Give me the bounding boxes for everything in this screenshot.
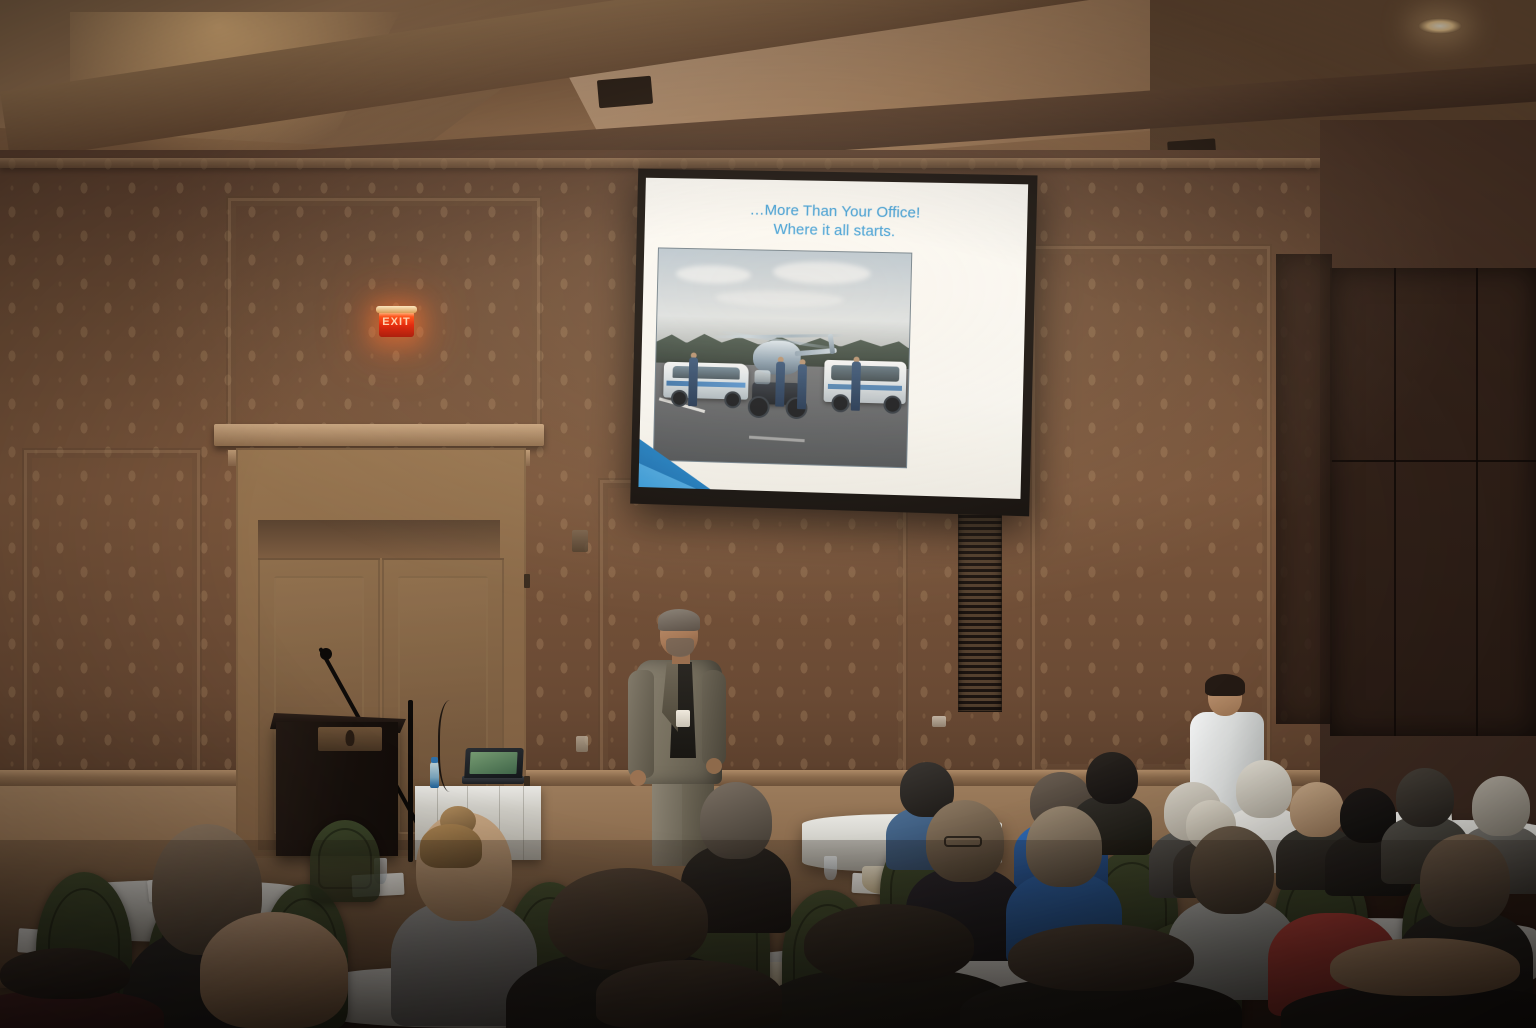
presenter-arm-right xyxy=(702,670,726,766)
photo-cruiser-stripe xyxy=(667,380,745,388)
ceiling-vent-left xyxy=(597,76,653,109)
photo-suv-windows xyxy=(831,365,900,382)
exit-sign: EXIT xyxy=(379,311,414,337)
foreground-shadow-gradient xyxy=(0,840,1536,1028)
photo-suv-stripe xyxy=(828,383,902,391)
microphone-pole xyxy=(408,700,413,862)
photo-officer-body xyxy=(775,362,785,407)
microphone-capsule-icon xyxy=(320,648,332,660)
slide-photograph xyxy=(653,247,912,468)
ceiling-downlight-icon xyxy=(1418,18,1462,34)
photo-cruiser-windows xyxy=(672,365,740,379)
wall-thermostat-icon[interactable] xyxy=(932,716,946,727)
wall-outlet-plate-icon xyxy=(576,736,588,752)
lectern-emblem-icon xyxy=(346,730,355,746)
partition-seam-vertical-2 xyxy=(1476,268,1478,736)
attendee-head xyxy=(1290,782,1344,837)
laptop-screen[interactable] xyxy=(464,748,524,778)
door-hinge-icon xyxy=(524,574,530,588)
photo-officer-body xyxy=(797,364,807,409)
wall-panel-frame-4 xyxy=(24,450,200,786)
partition-seam-horizontal xyxy=(1330,460,1536,462)
door-pediment-moulding xyxy=(214,424,544,446)
wall-speaker-box-icon xyxy=(572,530,588,552)
presenter-hand-right xyxy=(706,758,722,774)
attendee-head xyxy=(1472,776,1530,836)
av-cable xyxy=(438,700,468,792)
wall-air-vent-grille xyxy=(958,508,1002,712)
photo-officer-4 xyxy=(849,356,862,410)
projection-screen: …More Than Your Office! Where it all sta… xyxy=(630,169,1037,517)
partition-seam-vertical-1 xyxy=(1394,268,1396,736)
photo-officer-body xyxy=(688,357,698,406)
air-wall-partition xyxy=(1330,268,1536,736)
photo-officer-body xyxy=(851,362,861,411)
photo-officer-3 xyxy=(795,359,808,409)
attendee-head xyxy=(1236,760,1292,818)
lectern-emblem-plaque xyxy=(318,727,382,751)
attendee-head xyxy=(1086,752,1138,804)
presenter-beard xyxy=(666,638,694,657)
exit-sign-housing xyxy=(376,306,417,313)
presenter-hand-left xyxy=(630,770,646,786)
door-header-shadow xyxy=(258,520,500,558)
upper-cornice-moulding xyxy=(0,158,1320,168)
presenter-arm-left xyxy=(628,670,654,778)
standing-attendee-hair xyxy=(1205,674,1245,696)
slide-title: …More Than Your Office! Where it all sta… xyxy=(644,200,1027,245)
laptop-display-glow xyxy=(469,752,517,774)
presenter-hair xyxy=(658,609,700,631)
bottle-cap-icon xyxy=(431,757,438,763)
photo-motorcycle-windshield-icon xyxy=(754,370,770,384)
photo-officer-2 xyxy=(774,357,787,407)
attendee-head xyxy=(1396,768,1454,827)
exit-sign-label: EXIT xyxy=(379,316,414,337)
air-wall-partition-far xyxy=(1276,254,1332,724)
presenter-name-badge xyxy=(676,710,690,727)
projection-screen-surface: …More Than Your Office! Where it all sta… xyxy=(638,178,1028,499)
conference-room-scene: EXIT …More Than Your Office! Where it al… xyxy=(0,0,1536,1028)
photo-officer-1 xyxy=(687,352,700,406)
